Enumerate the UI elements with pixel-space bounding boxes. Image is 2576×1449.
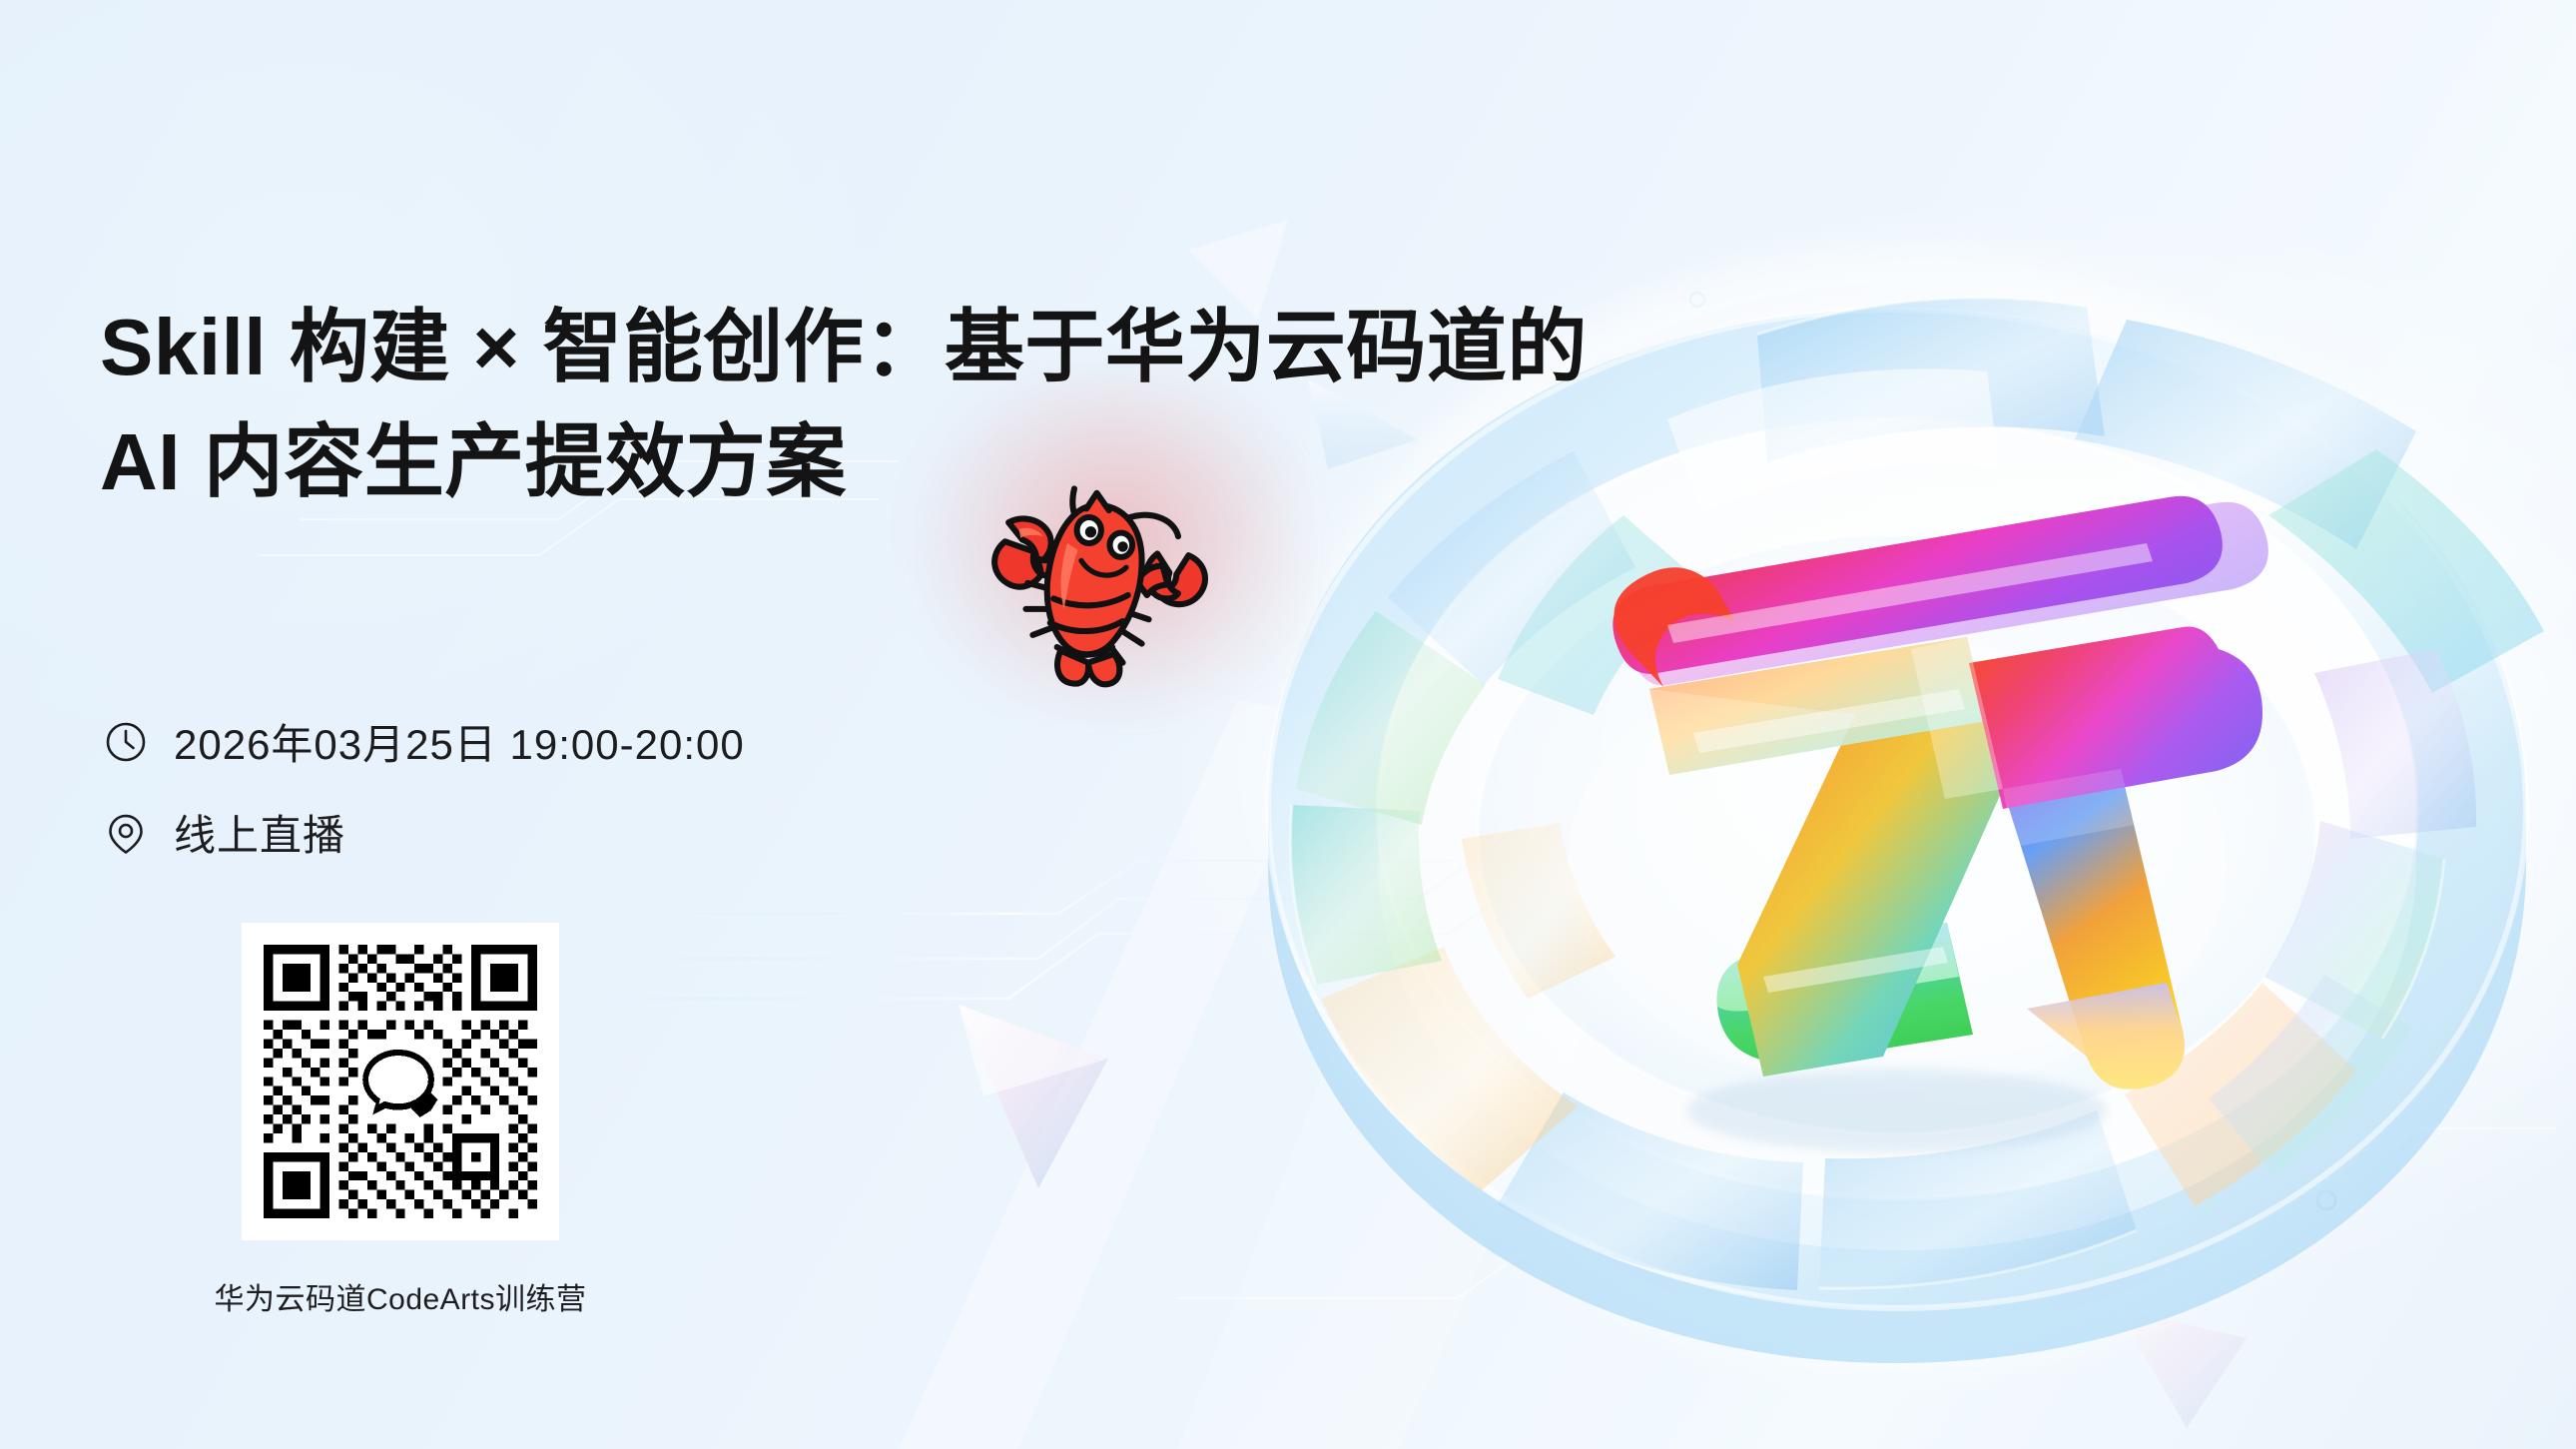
event-details: 2026年03月25日 19:00-20:00 线上直播 xyxy=(104,711,745,863)
event-location-row: 线上直播 xyxy=(104,802,745,863)
lobster-sticker xyxy=(970,439,1230,699)
event-datetime-row: 2026年03月25日 19:00-20:00 xyxy=(104,711,745,772)
poster-canvas: Skill 构建 × 智能创作：基于华为云码道的 AI 内容生产提效方案 202… xyxy=(0,0,2576,1449)
location-pin-icon xyxy=(104,811,148,855)
event-datetime-text: 2026年03月25日 19:00-20:00 xyxy=(174,711,745,772)
qr-code[interactable] xyxy=(242,923,559,1240)
event-location-text: 线上直播 xyxy=(174,802,345,863)
qr-caption: 华为云码道CodeArts训练营 xyxy=(194,1274,607,1318)
clock-icon xyxy=(104,720,148,764)
qr-block: 华为云码道CodeArts训练营 xyxy=(242,923,607,1318)
lobster-emoji-icon xyxy=(970,439,1230,699)
content-column: Skill 构建 × 智能创作：基于华为云码道的 AI 内容生产提效方案 202… xyxy=(100,0,1348,1449)
title-line-1: Skill 构建 × 智能创作：基于华为云码道的 xyxy=(100,290,1348,404)
qr-code-matrix xyxy=(264,945,537,1218)
